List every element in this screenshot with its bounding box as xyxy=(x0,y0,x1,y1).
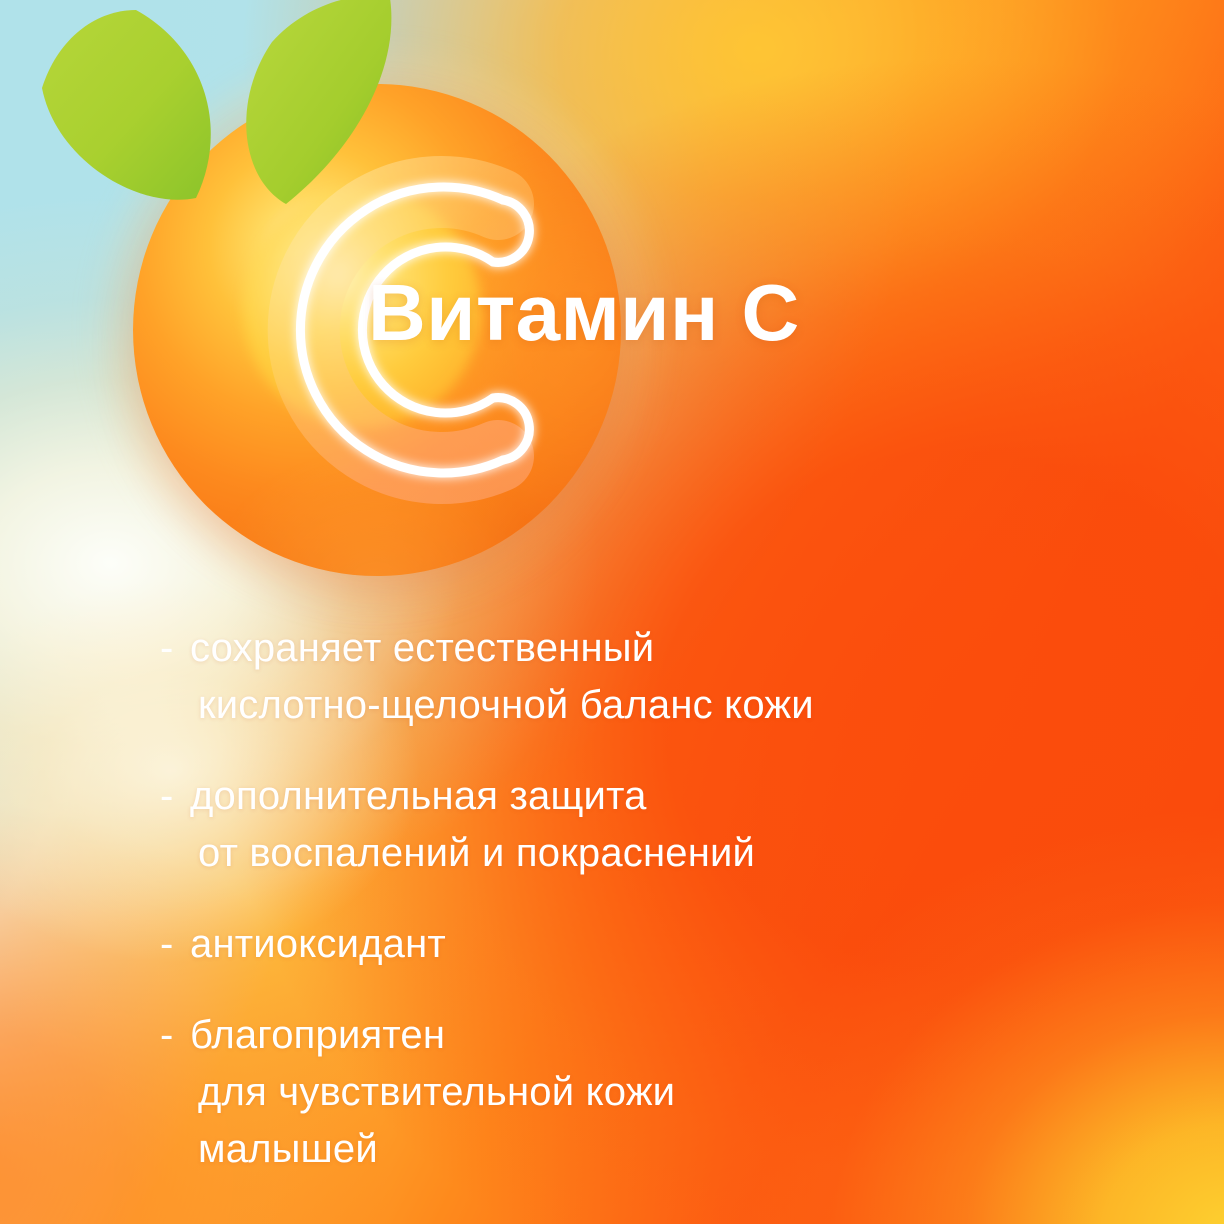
leaf-icon-right xyxy=(246,0,391,204)
list-item: - дополнительная защита от воспалений и … xyxy=(160,768,1080,882)
bullet-dash-icon: - xyxy=(160,916,188,972)
list-item-line: сохраняет естественный xyxy=(190,620,1080,677)
list-item-text: антиоксидант xyxy=(190,916,1080,973)
benefits-list: - сохраняет естественный кислотно-щелочн… xyxy=(160,620,1080,1178)
list-item-line: кислотно-щелочной баланс кожи xyxy=(190,677,1080,734)
list-item-text: благоприятен для чувствительной кожи мал… xyxy=(190,1007,1080,1178)
list-item: - благоприятен для чувствительной кожи м… xyxy=(160,1007,1080,1178)
vitamin-c-poster: Витамин С - сохраняет естественный кисло… xyxy=(0,0,1224,1224)
list-item-text: сохраняет естественный кислотно-щелочной… xyxy=(190,620,1080,734)
list-item-text: дополнительная защита от воспалений и по… xyxy=(190,768,1080,882)
list-item-line: для чувствительной кожи xyxy=(190,1064,1080,1121)
list-item-line: от воспалений и покраснений xyxy=(190,825,1080,882)
list-item: - сохраняет естественный кислотно-щелочн… xyxy=(160,620,1080,734)
bullet-dash-icon: - xyxy=(160,768,188,824)
bullet-dash-icon: - xyxy=(160,1007,188,1063)
list-item-line: малышей xyxy=(190,1121,1080,1178)
list-item-line: благоприятен xyxy=(190,1007,1080,1064)
bullet-dash-icon: - xyxy=(160,620,188,676)
list-item-line: антиоксидант xyxy=(190,916,1080,973)
page-title: Витамин С xyxy=(368,273,800,353)
list-item-line: дополнительная защита xyxy=(190,768,1080,825)
leaf-icon-left xyxy=(42,10,211,200)
leaves-group xyxy=(18,0,438,272)
list-item: - антиоксидант xyxy=(160,916,1080,973)
